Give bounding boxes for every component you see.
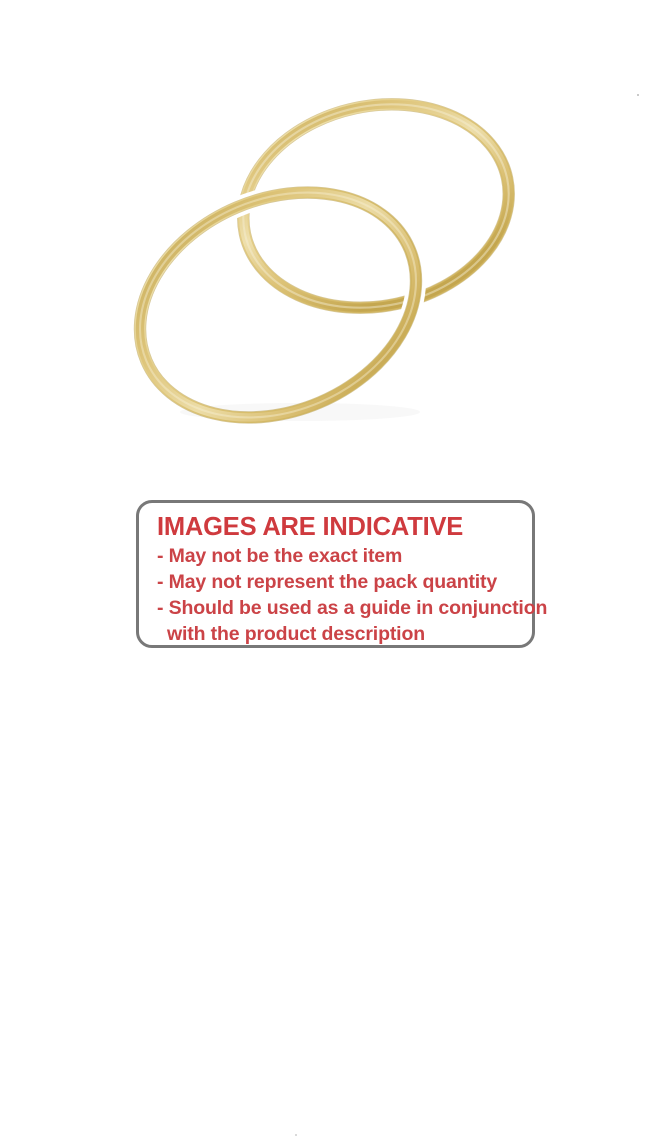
o-ring-illustration <box>0 0 670 480</box>
indicative-line-1: - May not be the exact item <box>157 543 518 569</box>
product-image-area <box>0 0 670 480</box>
indicative-line-3: - Should be used as a guide in conjuncti… <box>157 595 518 621</box>
scan-speck <box>637 94 639 96</box>
indicative-line-2: - May not represent the pack quantity <box>157 569 518 595</box>
indicative-title: IMAGES ARE INDICATIVE <box>157 511 518 543</box>
indicative-line-4: with the product description <box>167 621 518 647</box>
product-image-page: IMAGES ARE INDICATIVE - May not be the e… <box>0 0 670 670</box>
images-are-indicative-box: IMAGES ARE INDICATIVE - May not be the e… <box>136 500 535 648</box>
